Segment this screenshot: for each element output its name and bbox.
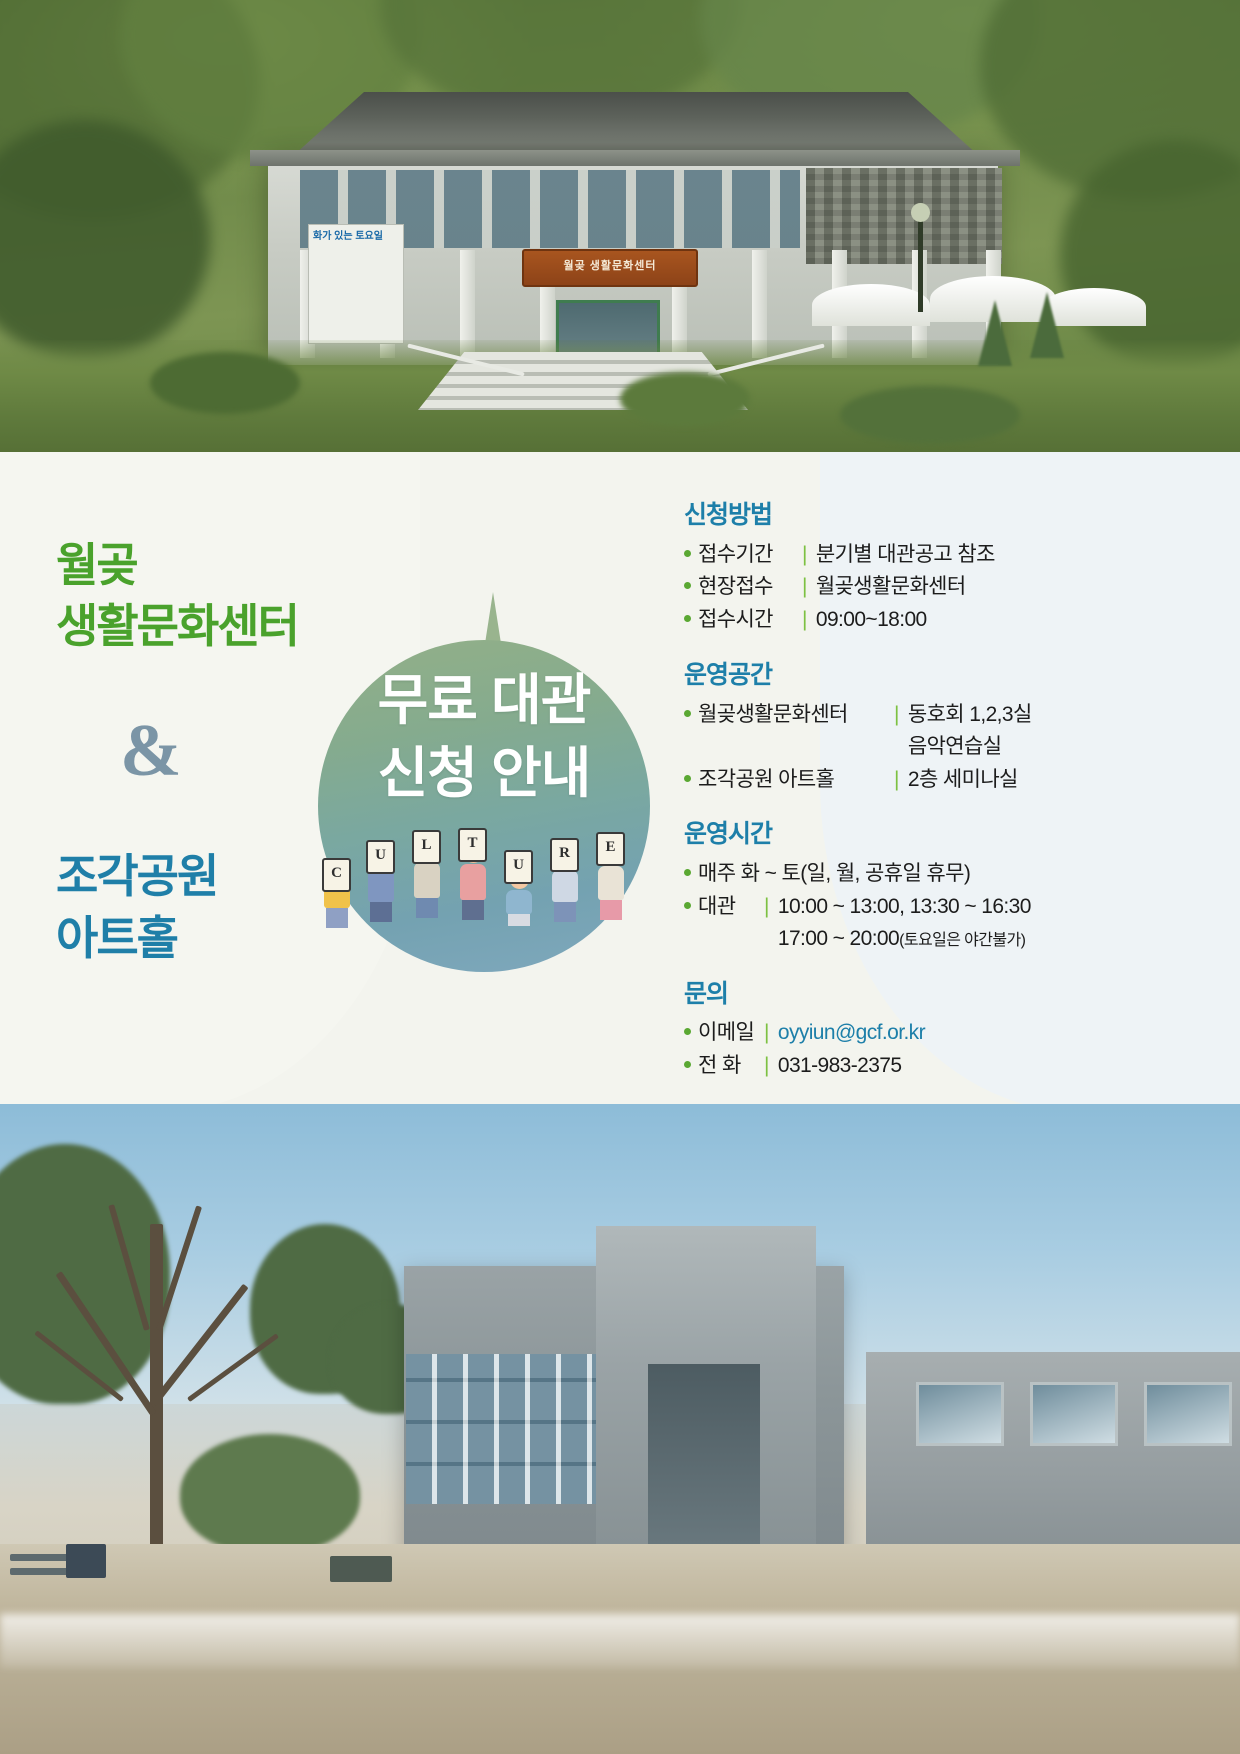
venue-primary-title: 월곶 생활문화센터 <box>56 535 386 656</box>
row-separator-icon: | <box>894 764 899 796</box>
right-wing-window <box>916 1382 1004 1446</box>
row-value: 09:00~18:00 <box>816 604 1104 636</box>
row-value: 10:00 ~ 13:00, 13:30 ~ 16:30 17:00 ~ 20:… <box>778 891 1104 955</box>
info-row-phone: 전 화 | 031-983-2375 <box>684 1050 1104 1082</box>
bullet-dot-icon <box>684 550 691 557</box>
banner-headline: 화가 있는 토요일 <box>313 231 383 242</box>
info-row: 대관 | 10:00 ~ 13:00, 13:30 ~ 16:30 17:00 … <box>684 891 1104 955</box>
section-title: 문의 <box>684 981 1104 1009</box>
bullet-dot-icon <box>684 1061 691 1068</box>
info-row: 월곶생활문화센터 | 동호회 1,2,3실 음악연습실 <box>684 699 1104 763</box>
conifer-shrub <box>978 300 1012 366</box>
contact-phone[interactable]: 031-983-2375 <box>778 1050 1104 1082</box>
row-value: 동호회 1,2,3실 음악연습실 <box>908 699 1104 763</box>
info-row: 접수시간 | 09:00~18:00 <box>684 604 1104 636</box>
section-application-method: 신청방법 접수기간 | 분기별 대관공고 참조 현장접수 | 월곶생활문화센터 … <box>684 502 1104 636</box>
bullet-dot-icon <box>684 710 691 717</box>
row-label: 접수기간 <box>698 539 802 571</box>
info-row: 현장접수 | 월곶생활문화센터 <box>684 571 1104 603</box>
row-separator-icon: | <box>894 699 899 731</box>
row-value-line2: 음악연습실 <box>908 735 1002 758</box>
row-value-line2: 17:00 ~ 20:00 <box>778 927 899 950</box>
poster-root: 월곶 생활문화센터 화가 있는 토요일 무료 대관 신청 안내 <box>0 0 1240 1754</box>
row-separator-icon: | <box>764 891 769 923</box>
info-row: 조각공원 아트홀 | 2층 세미나실 <box>684 764 1104 796</box>
exhibition-banner: 화가 있는 토요일 <box>308 224 404 344</box>
bullet-dot-icon <box>684 582 691 589</box>
bullet-dot-icon <box>684 1028 691 1035</box>
section-title: 신청방법 <box>684 502 1104 530</box>
venue-primary-line2: 생활문화센터 <box>56 596 386 657</box>
shrub <box>620 372 750 426</box>
venue-secondary-line1: 조각공원 <box>56 846 386 908</box>
letter-card-l: L <box>412 830 441 864</box>
row-label: 매주 화 ~ 토(일, 월, 공휴일 휴무) <box>698 858 1104 890</box>
section-title: 운영시간 <box>684 821 1104 849</box>
section-operating-hours: 운영시간 매주 화 ~ 토(일, 월, 공휴일 휴무) 대관 | 10:00 ~… <box>684 821 1104 954</box>
row-value-line1: 10:00 ~ 13:00, 13:30 ~ 16:30 <box>778 895 1031 918</box>
shrub <box>150 352 300 414</box>
row-label: 월곶생활문화센터 <box>698 699 894 731</box>
ampersand-symbol: & <box>56 714 386 788</box>
bullet-dot-icon <box>684 902 691 909</box>
row-value: 분기별 대관공고 참조 <box>816 539 1104 571</box>
pine-tree <box>180 1434 360 1554</box>
venue-titles: 월곶 생활문화센터 & 조각공원 아트홀 <box>56 535 386 970</box>
row-label: 전 화 <box>698 1050 764 1082</box>
bullet-dot-icon <box>684 615 691 622</box>
row-label: 대관 <box>698 891 764 923</box>
section-title: 운영공간 <box>684 662 1104 690</box>
contact-email[interactable]: oyyiun@gcf.or.kr <box>778 1017 1104 1049</box>
letter-card-u2: U <box>504 850 533 884</box>
row-value-line1: 동호회 1,2,3실 <box>908 703 1032 726</box>
top-photo-wolgot-center: 월곶 생활문화센터 화가 있는 토요일 <box>0 0 1240 470</box>
patio-umbrella <box>812 284 930 326</box>
row-value-note: (토요일은 야간불가) <box>899 932 1025 949</box>
information-board <box>66 1544 106 1578</box>
right-wing-window <box>1030 1382 1118 1446</box>
bullet-dot-icon <box>684 775 691 782</box>
art-hall-entrance <box>648 1364 760 1564</box>
venue-primary-line1: 월곶 <box>56 535 386 596</box>
bullet-dot-icon <box>684 869 691 876</box>
building-name-sign: 월곶 생활문화센터 <box>522 249 698 287</box>
row-label: 이메일 <box>698 1017 764 1049</box>
row-label: 현장접수 <box>698 571 802 603</box>
section-operating-spaces: 운영공간 월곶생활문화센터 | 동호회 1,2,3실 음악연습실 조각공원 아트… <box>684 662 1104 795</box>
info-row: 접수기간 | 분기별 대관공고 참조 <box>684 539 1104 571</box>
shrub <box>840 386 1020 444</box>
row-separator-icon: | <box>764 1050 769 1082</box>
letter-card-r: R <box>550 838 579 872</box>
building-eave <box>250 150 1020 166</box>
row-value: 월곶생활문화센터 <box>816 571 1104 603</box>
row-separator-icon: | <box>802 539 807 571</box>
information-board <box>330 1556 392 1582</box>
row-value: 2층 세미나실 <box>908 764 1104 796</box>
info-panel: 신청방법 접수기간 | 분기별 대관공고 참조 현장접수 | 월곶생활문화센터 … <box>684 502 1104 1108</box>
row-label: 접수시간 <box>698 604 802 636</box>
art-hall-glass-curtain-wall <box>406 1354 606 1504</box>
venue-secondary-title: 조각공원 아트홀 <box>56 846 386 969</box>
bottom-photo-sculpture-park-art-hall <box>0 1104 1240 1754</box>
street-lamp <box>918 216 923 312</box>
row-label: 조각공원 아트홀 <box>698 764 894 796</box>
section-contact: 문의 이메일 | oyyiun@gcf.or.kr 전 화 | 031-983-… <box>684 981 1104 1082</box>
letter-card-t: T <box>458 828 487 862</box>
info-row: 매주 화 ~ 토(일, 월, 공휴일 휴무) <box>684 858 1104 890</box>
right-wing-window <box>1144 1382 1232 1446</box>
venue-secondary-line2: 아트홀 <box>56 908 386 970</box>
row-separator-icon: | <box>764 1017 769 1049</box>
row-separator-icon: | <box>802 604 807 636</box>
letter-card-e: E <box>596 832 625 866</box>
info-row-email: 이메일 | oyyiun@gcf.or.kr <box>684 1017 1104 1049</box>
conifer-shrub <box>1030 292 1064 358</box>
snow-patch <box>0 1614 1240 1668</box>
row-separator-icon: | <box>802 571 807 603</box>
